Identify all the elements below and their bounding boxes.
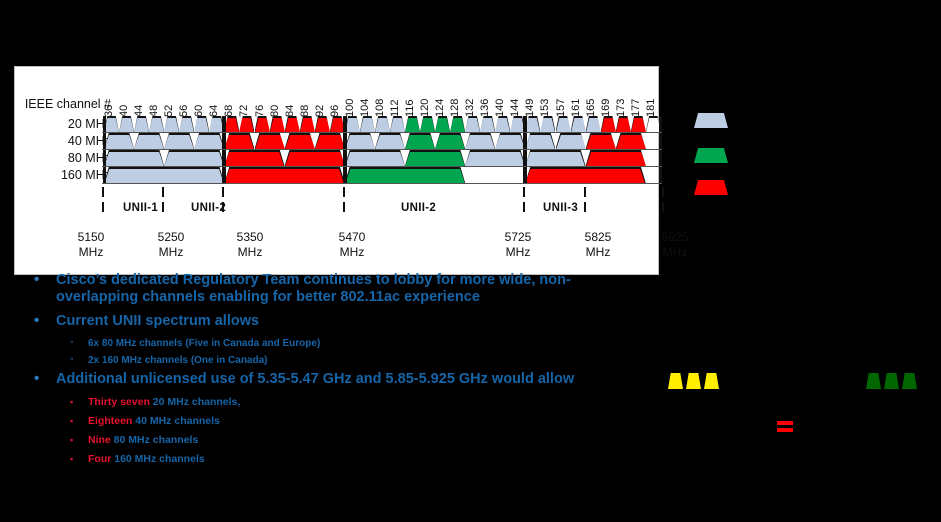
channel-block-40MHz-44[interactable] [134,133,164,149]
channel-number-116: 116 [405,99,416,117]
unii-tick-0-0 [102,187,104,197]
channel-block-20MHz-60[interactable] [194,116,209,132]
channel-block-20MHz-84[interactable] [285,116,300,132]
bullet-emphasis-8: Four [88,453,111,465]
bullet-item-8: Four 160 MHz channels [22,452,642,467]
freq-value-5: 5825 [585,230,612,244]
channel-number-axis: 3640444852566064687276808488929610010410… [15,89,660,117]
bullet-item-6: Eighteen 40 MHz channels [22,414,642,429]
band-row-20mhz [15,116,660,132]
channel-block-20MHz-132[interactable] [465,116,480,132]
channel-block-40MHz-36[interactable] [104,133,134,149]
legend-swatch-restricted-red [694,180,728,195]
channel-block-80MHz-149[interactable] [525,150,585,166]
channel-block-20MHz-169[interactable] [601,116,616,132]
unii-tick-6-0 [662,187,664,197]
channel-block-40MHz-52[interactable] [164,133,194,149]
frequency-label-2: 5350MHz [220,230,280,260]
channel-block-20MHz-48[interactable] [149,116,164,132]
freq-value-4: 5725 [505,230,532,244]
channel-number-128: 128 [450,99,461,117]
freq-unit-4: MHz [506,245,531,259]
bullet-item-2: 6x 80 MHz channels (Five in Canada and E… [22,337,642,351]
channel-block-20MHz-149[interactable] [525,116,540,132]
channel-number-153: 153 [540,99,551,117]
channel-block-80MHz-52[interactable] [164,150,224,166]
freq-value-3: 5470 [339,230,366,244]
bullet-emphasis-7: Nine [88,434,111,446]
channel-block-40MHz-149[interactable] [525,133,555,149]
band-edge-marker-end-96 [343,116,346,132]
channel-number-100: 100 [345,99,356,117]
unii-tick-4-1 [523,202,525,212]
channel-number-173: 173 [616,99,627,117]
channel-block-20MHz-72[interactable] [239,116,254,132]
band-edge-marker-36 [103,167,106,183]
channel-number-169: 169 [601,99,612,117]
channel-block-80MHz-68[interactable] [224,150,284,166]
channel-block-20MHz-140[interactable] [495,116,510,132]
yellow-marker-1 [686,373,701,389]
channel-block-40MHz-124[interactable] [435,133,465,149]
channel-block-160MHz-100[interactable] [345,167,465,183]
channel-block-20MHz-173[interactable] [616,116,631,132]
bullet-item-7: Nine 80 MHz channels [22,433,642,448]
unii-tick-5-1 [584,202,586,212]
channel-block-20MHz-56[interactable] [179,116,194,132]
channel-block-20MHz-128[interactable] [450,116,465,132]
channel-number-149: 149 [525,99,536,117]
channel-block-40MHz-157[interactable] [556,133,586,149]
bullet-item-0: Cisco’s dedicated Regulatory Team contin… [22,272,642,306]
channel-block-20MHz-40[interactable] [119,116,134,132]
unii-band-label-1: UNII-2 [191,202,226,214]
band-edge-marker-end-144 [523,167,526,183]
channel-block-80MHz-116[interactable] [405,150,465,166]
bullet-text-5: 20 MHz channels, [150,396,240,408]
channel-block-80MHz-132[interactable] [465,150,525,166]
bullet-emphasis-6: Eighteen [88,415,132,427]
freq-value-1: 5250 [158,230,185,244]
bullet-item-1: Current UNII spectrum allows [22,313,642,330]
band-edge-marker-end-144 [523,150,526,166]
channel-block-40MHz-84[interactable] [285,133,315,149]
green-marker-2 [902,373,917,389]
bullet-text-6: 40 MHz channels [132,415,220,427]
bullet-item-3: 2x 160 MHz channels (One in Canada) [22,354,642,368]
channel-number-177: 177 [631,99,642,117]
bullet-item-4: Additional unlicensed use of 5.35-5.47 G… [22,371,642,388]
bullet-text-7: 80 MHz channels [111,434,199,446]
unii-tick-1-0 [162,187,164,197]
channel-block-40MHz-173[interactable] [616,133,646,149]
channel-block-20MHz-136[interactable] [480,116,495,132]
channel-block-160MHz-36[interactable] [104,167,224,183]
band-row-160mhz [15,167,660,183]
channel-block-20MHz-112[interactable] [390,116,405,132]
channel-block-20MHz-153[interactable] [540,116,555,132]
band-row-40mhz [15,133,660,149]
band-edge-marker-36 [103,116,106,132]
freq-unit-3: MHz [340,245,365,259]
frequency-label-6: 5925MHz [645,230,705,260]
freq-value-2: 5350 [237,230,264,244]
channel-block-40MHz-108[interactable] [375,133,405,149]
channel-block-40MHz-92[interactable] [315,133,345,149]
band-edge-marker-end-181 [659,116,662,132]
unii-tick-2-0 [222,187,224,197]
bullet-item-5: Thirty seven 20 MHz channels, [22,395,642,410]
band-edge-marker-36 [103,133,106,149]
unii-tick-3-1 [343,202,345,212]
freq-unit-6: MHz [663,245,688,259]
yellow-marker-0 [668,373,683,389]
band-edge-marker-36 [103,150,106,166]
channel-number-104: 104 [360,99,371,117]
yellow-marker-2 [704,373,719,389]
band-edge-marker-end-64 [222,150,225,166]
green-marker-1 [884,373,899,389]
unii-tick-5-0 [584,187,586,197]
bullet-list: Cisco’s dedicated Regulatory Team contin… [22,272,642,471]
unii-band-label-2: UNII-2 [401,202,436,214]
band-edge-marker-end-96 [343,167,346,183]
band-edge-marker-end-64 [222,167,225,183]
channel-block-40MHz-100[interactable] [345,133,375,149]
channel-block-20MHz-100[interactable] [345,116,360,132]
channel-block-40MHz-76[interactable] [255,133,285,149]
channel-block-40MHz-116[interactable] [405,133,435,149]
channel-block-20MHz-120[interactable] [420,116,435,132]
channel-block-20MHz-165[interactable] [586,116,601,132]
channel-number-132: 132 [465,99,476,117]
channel-block-160MHz-149[interactable] [525,167,645,183]
freq-unit-0: MHz [79,245,104,259]
green-marker-0 [866,373,881,389]
freq-value-0: 5150 [78,230,105,244]
channel-block-20MHz-177[interactable] [631,116,646,132]
channel-block-20MHz-88[interactable] [300,116,315,132]
freq-value-6: 5925 [662,230,689,244]
channel-number-108: 108 [375,99,386,117]
freq-unit-1: MHz [159,245,184,259]
channel-number-157: 157 [556,99,567,117]
channel-block-20MHz-116[interactable] [405,116,420,132]
channel-block-20MHz-44[interactable] [134,116,149,132]
bullet-emphasis-5: Thirty seven [88,396,150,408]
channel-block-20MHz-36[interactable] [104,116,119,132]
channel-number-124: 124 [435,99,446,117]
unii-tick-1-1 [162,202,164,212]
channel-block-80MHz-165[interactable] [586,150,646,166]
band-edge-marker-end-64 [222,116,225,132]
channel-number-120: 120 [420,99,431,117]
unii-band-label-0: UNII-1 [123,202,158,214]
channel-number-181: 181 [646,99,657,117]
band-edge-marker-end-181 [659,133,662,149]
frequency-label-3: 5470MHz [322,230,382,260]
channel-block-20MHz-124[interactable] [435,116,450,132]
band-edge-marker-end-144 [523,133,526,149]
legend-swatch-available-blue [694,113,728,128]
channel-block-80MHz-84[interactable] [285,150,345,166]
freq-unit-2: MHz [238,245,263,259]
channel-number-144: 144 [510,99,521,117]
channel-number-140: 140 [495,99,506,117]
band-edge-marker-end-96 [343,150,346,166]
channel-block-160MHz-68[interactable] [224,167,344,183]
band-edge-marker-end-64 [222,133,225,149]
channel-block-20MHz-68[interactable] [224,116,239,132]
frequency-label-5: 5825MHz [568,230,628,260]
channel-block-40MHz-165[interactable] [586,133,616,149]
channel-block-80MHz-100[interactable] [345,150,405,166]
channel-number-165: 165 [586,99,597,117]
channel-block-20MHz-52[interactable] [164,116,179,132]
channel-block-40MHz-140[interactable] [495,133,525,149]
channel-block-20MHz-161[interactable] [571,116,586,132]
channel-block-40MHz-68[interactable] [224,133,254,149]
channel-number-112: 112 [390,99,401,117]
channel-block-20MHz-92[interactable] [315,116,330,132]
band-row-80mhz [15,150,660,166]
channel-block-40MHz-132[interactable] [465,133,495,149]
frequency-label-4: 5725MHz [488,230,548,260]
channel-block-40MHz-60[interactable] [194,133,224,149]
band-edge-marker-end-96 [343,133,346,149]
unii-tick-0-1 [102,202,104,212]
channel-block-80MHz-36[interactable] [104,150,164,166]
channel-block-20MHz-80[interactable] [270,116,285,132]
channel-block-20MHz-76[interactable] [255,116,270,132]
frequency-label-1: 5250MHz [141,230,201,260]
frequency-label-0: 5150MHz [61,230,121,260]
bullet-text-8: 160 MHz channels [111,453,204,465]
unii-tick-4-0 [523,187,525,197]
channel-number-161: 161 [571,99,582,117]
spectrum-chart-panel: IEEE channel # 20 MHz 40 MHz 80 MHz 160 … [14,66,659,275]
band-edge-marker-end-181 [659,167,662,183]
band-baseline [102,183,662,184]
freq-unit-5: MHz [586,245,611,259]
band-edge-marker-end-144 [523,116,526,132]
equals-marker [777,421,793,435]
unii-tick-3-0 [343,187,345,197]
unii-band-label-3: UNII-3 [543,202,578,214]
band-edge-marker-end-181 [659,150,662,166]
unii-tick-6-1 [662,202,664,212]
legend-swatch-proposed-green [694,148,728,163]
channel-block-20MHz-108[interactable] [375,116,390,132]
channel-block-20MHz-157[interactable] [556,116,571,132]
channel-number-136: 136 [480,99,491,117]
channel-block-20MHz-104[interactable] [360,116,375,132]
